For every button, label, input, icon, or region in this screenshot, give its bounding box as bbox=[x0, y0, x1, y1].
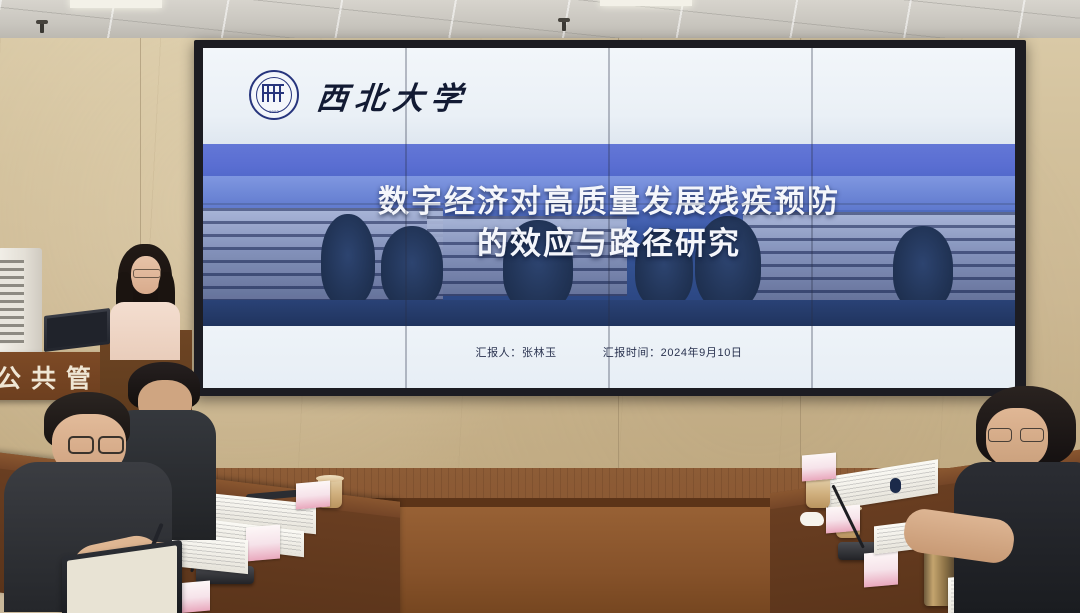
front-attendee-glasses-icon bbox=[68, 436, 124, 450]
panel-seam-horizontal bbox=[203, 203, 1015, 205]
seal-year: 1902 bbox=[269, 109, 279, 114]
right-tissue bbox=[800, 512, 824, 526]
right-microphone-head bbox=[890, 478, 901, 493]
presenter-body bbox=[110, 302, 180, 360]
right-paper-cup-1 bbox=[806, 478, 830, 508]
conference-room-photo: 1902 西北大学 数字经济对高质量发展残疾预防 的效应与路径研究 汇报人：张林… bbox=[0, 0, 1080, 613]
video-wall-frame: 1902 西北大学 数字经济对高质量发展残疾预防 的效应与路径研究 汇报人：张林… bbox=[194, 40, 1026, 396]
university-branding: 1902 西北大学 bbox=[249, 70, 469, 120]
slide-date: 汇报时间：2024年9月10日 bbox=[603, 344, 743, 360]
right-attendee bbox=[962, 386, 1080, 613]
ceiling-light-left bbox=[70, 0, 162, 8]
presenter-glasses-icon bbox=[133, 269, 161, 278]
right-name-card-3 bbox=[864, 551, 898, 588]
left-name-card-back bbox=[296, 481, 330, 510]
presenter-person bbox=[106, 244, 184, 354]
panel-seam-vertical-3 bbox=[811, 48, 813, 388]
ceiling-light-right bbox=[600, 0, 692, 6]
left-name-card-mid bbox=[246, 525, 280, 562]
university-seal-icon: 1902 bbox=[249, 70, 299, 120]
university-name: 西北大学 bbox=[315, 73, 472, 118]
video-wall-display[interactable]: 1902 西北大学 数字经济对高质量发展残疾预防 的效应与路径研究 汇报人：张林… bbox=[203, 48, 1015, 388]
panel-seam-vertical-2 bbox=[608, 48, 610, 388]
ceiling bbox=[0, 0, 1080, 42]
ceiling-tile-grid bbox=[0, 0, 1080, 42]
panel-seam-vertical-1 bbox=[405, 48, 407, 388]
right-attendee-glasses-icon bbox=[988, 428, 1044, 440]
laptop-screen bbox=[47, 311, 107, 348]
sprinkler-head-center bbox=[562, 20, 566, 31]
tablet-screen bbox=[67, 545, 177, 613]
sprinkler-head-left bbox=[40, 22, 44, 33]
right-name-card-1 bbox=[802, 453, 836, 482]
slide-presenter: 汇报人：张林玉 bbox=[475, 344, 556, 360]
seal-emblem bbox=[262, 84, 284, 102]
ac-vent-louvers bbox=[0, 260, 24, 344]
